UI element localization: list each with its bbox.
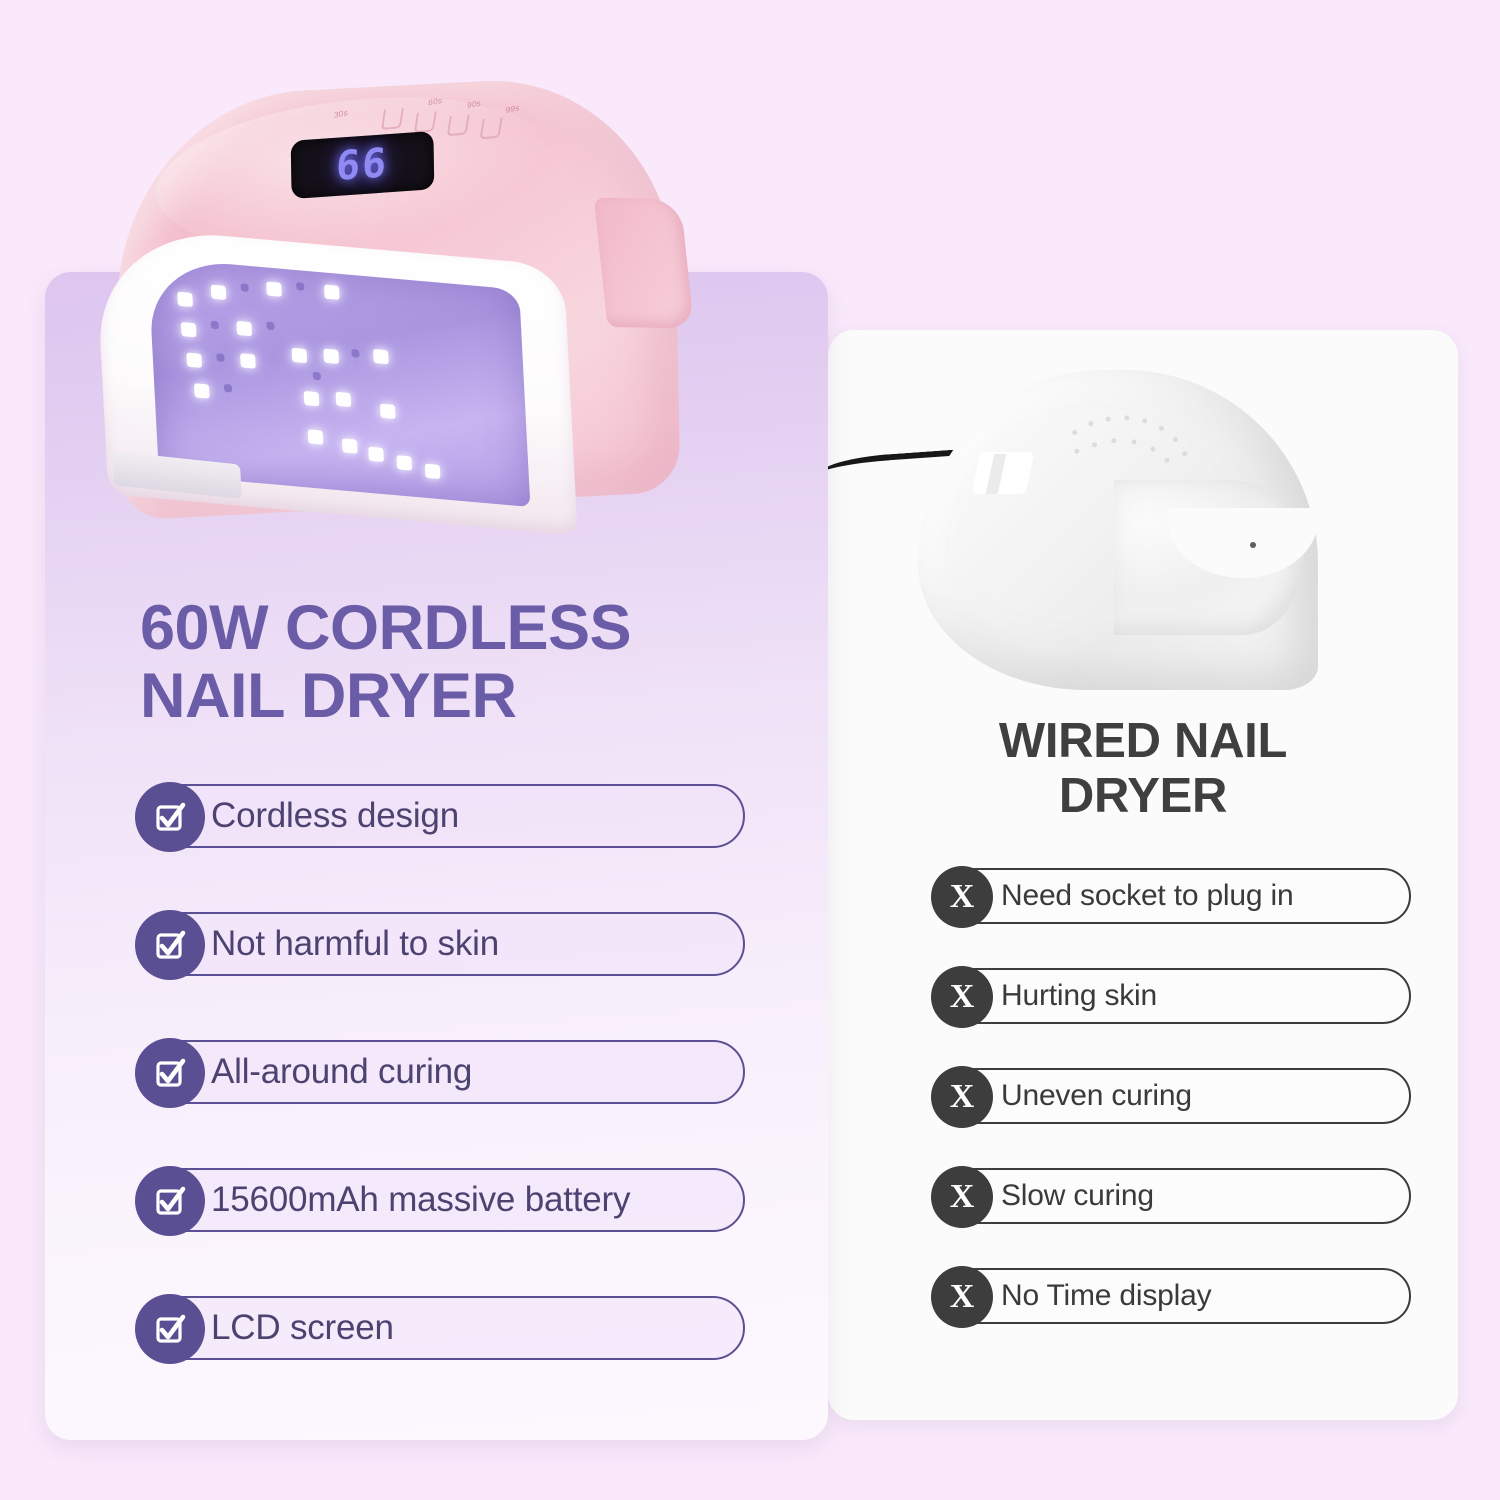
list-item-label: No Time display [1001,1279,1211,1313]
check-icon [135,1038,205,1108]
list-item: Not harmful to skin [137,912,745,976]
x-icon: X [931,1266,993,1328]
list-item-label: LCD screen [211,1308,394,1348]
lamp-lcd-screen: 66 [291,131,435,199]
list-item-label: Slow curing [1001,1179,1154,1213]
cordless-features-list: Cordless design Not harmful to skin [137,784,745,1360]
comparison-infographic: WIRED NAIL DRYER X Need socket to plug i… [0,0,1500,1500]
dryer-indicator-dot [1250,542,1256,548]
list-item: X Slow curing [933,1168,1411,1224]
cordless-panel-title-line1: 60W CORDLESS [140,594,780,662]
x-icon: X [931,966,993,1028]
lcd-timer-value: 66 [335,140,389,190]
lamp-button-60s[interactable] [414,111,437,133]
lamp-label-60s: 60s [428,96,442,108]
list-item: LCD screen [137,1296,745,1360]
check-icon [135,782,205,852]
list-item-label: Need socket to plug in [1001,879,1293,913]
wired-panel-title-line2: DRYER [868,769,1418,824]
check-icon [135,910,205,980]
check-icon [135,1166,205,1236]
list-item-label: Not harmful to skin [211,924,499,964]
list-item: 15600mAh massive battery [137,1168,745,1232]
cordless-panel-title-line2: NAIL DRYER [140,662,780,730]
wired-panel-title-line1: WIRED NAIL [868,714,1418,769]
wired-panel-title: WIRED NAIL DRYER [868,714,1418,824]
lamp-label-30s: 30s [334,108,348,120]
wired-nail-dryer-card: WIRED NAIL DRYER X Need socket to plug i… [828,330,1458,1420]
cordless-panel-title: 60W CORDLESS NAIL DRYER [140,594,780,730]
x-icon: X [931,866,993,928]
list-item: X No Time display [933,1268,1411,1324]
list-item-label: Cordless design [211,796,459,836]
cordless-lamp-product-image: 30s 60s 90s 99s 66 [95,78,695,548]
wired-drawbacks-list: X Need socket to plug in X Hurting skin … [933,868,1411,1324]
list-item: X Need socket to plug in [933,868,1411,924]
x-icon: X [931,1066,993,1128]
list-item: Cordless design [137,784,745,848]
list-item-label: 15600mAh massive battery [211,1180,630,1220]
lamp-label-99s: 99s [506,103,520,115]
list-item-label: Uneven curing [1001,1079,1192,1113]
list-item-label: All-around curing [211,1052,472,1092]
lamp-label-90s: 90s [467,98,481,110]
list-item: X Uneven curing [933,1068,1411,1124]
list-item: All-around curing [137,1040,745,1104]
list-item-label: Hurting skin [1001,979,1157,1013]
list-item: X Hurting skin [933,968,1411,1024]
lamp-handle [594,198,694,329]
x-icon: X [931,1166,993,1228]
lamp-button-30s[interactable] [381,108,404,130]
check-icon [135,1294,205,1364]
lamp-button-90s[interactable] [447,114,470,136]
lamp-button-99s[interactable] [479,117,502,139]
wired-dryer-product-image [918,360,1398,730]
